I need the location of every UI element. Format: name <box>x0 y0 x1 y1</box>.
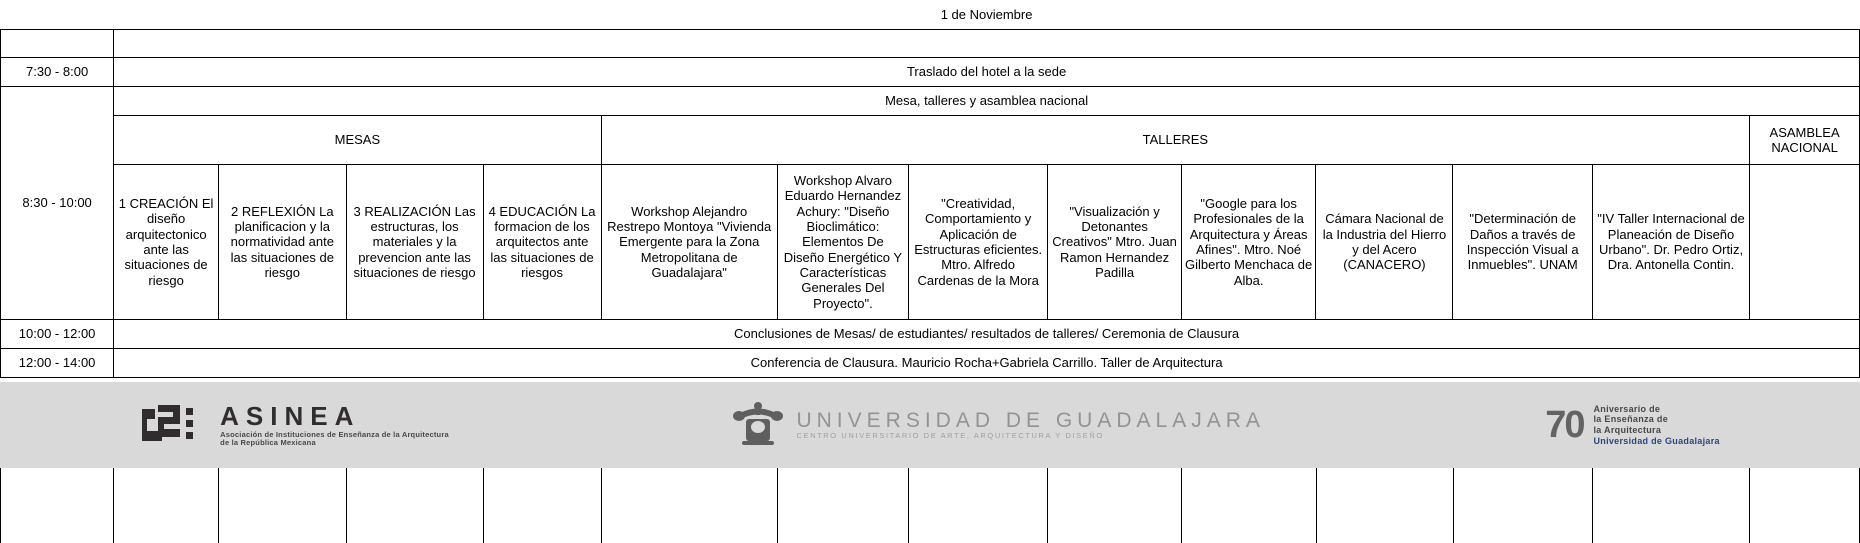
asinea-subtitle: Asociación de Instituciones de Enseñanza… <box>220 431 450 447</box>
row-mesa-banner: 8:30 - 10:00 Mesa, talleres y asamblea n… <box>1 87 1860 116</box>
universidad-de-guadalajara-logo: UNIVERSIDAD DE GUADALAJARA CENTRO UNIVER… <box>730 397 1264 453</box>
mesa-cell-1: 1 CREACIÓN El diseño arquitectonico ante… <box>114 165 219 320</box>
group-header-asamblea: ASAMBLEA NACIONAL <box>1750 116 1860 165</box>
time-clausura: 12:00 - 14:00 <box>1 349 114 378</box>
date-title: 1 de Noviembre <box>114 0 1860 30</box>
empty-cell <box>1048 468 1181 543</box>
empty-cell <box>1453 468 1592 543</box>
taller-cell-7: "Determinación de Daños a través de Insp… <box>1453 165 1592 320</box>
title-spacer <box>1 0 114 30</box>
footer-logo-band: ASINEA Asociación de Instituciones de En… <box>0 382 1860 468</box>
aniversario-line-3: la Arquitectura <box>1593 425 1719 436</box>
schedule-table: 1 de Noviembre HORARIO ACTIVIDADES 7:30 … <box>0 0 1860 378</box>
asinea-title: ASINEA <box>220 403 450 430</box>
taller-cell-8: "IV Taller Internacional de Planeación d… <box>1592 165 1749 320</box>
udg-crest-icon <box>730 397 786 453</box>
empty-grid-continuation <box>0 468 1860 541</box>
row-group-headers: MESAS TALLERES ASAMBLEA NACIONAL <box>1 116 1860 165</box>
empty-cell <box>346 468 483 543</box>
aniversario-number: 70 <box>1545 404 1583 447</box>
aniversario-line-2: la Enseñanza de <box>1593 414 1719 425</box>
taller-cell-3: "Creatividad, Comportamiento y Aplicació… <box>908 165 1047 320</box>
group-header-talleres: TALLERES <box>601 116 1750 165</box>
mesa-cell-3: 3 REALIZACIÓN Las estructuras, los mater… <box>346 165 483 320</box>
70-aniversario-logo: 70 Aniversario de la Enseñanza de la Arq… <box>1545 404 1720 447</box>
taller-cell-6: Cámara Nacional de la Industria del Hier… <box>1316 165 1453 320</box>
mesa-cell-4: 4 EDUCACIÓN La formacion de los arquitec… <box>483 165 601 320</box>
title-row: 1 de Noviembre <box>1 0 1860 30</box>
group-header-mesas: MESAS <box>114 116 601 165</box>
empty-cell <box>1316 468 1453 543</box>
empty-cell <box>219 468 347 543</box>
time-conclusiones: 10:00 - 12:00 <box>1 320 114 349</box>
conclusiones-text: Conclusiones de Mesas/ de estudiantes/ r… <box>114 320 1860 349</box>
taller-cell-4: "Visualización y Detonantes Creativos" M… <box>1048 165 1181 320</box>
asinea-logo: ASINEA Asociación de Instituciones de En… <box>140 403 450 447</box>
empty-cell <box>1750 468 1860 543</box>
aniversario-line-4: Universidad de Guadalajara <box>1593 436 1719 447</box>
asinea-logo-text: ASINEA Asociación de Instituciones de En… <box>220 403 450 446</box>
empty-cell <box>909 468 1048 543</box>
empty-cell <box>1181 468 1316 543</box>
mesa-banner-text: Mesa, talleres y asamblea nacional <box>114 87 1860 116</box>
udg-logo-text: UNIVERSIDAD DE GUADALAJARA CENTRO UNIVER… <box>796 410 1264 440</box>
taller-cell-5: "Google para los Profesionales de la Arq… <box>1181 165 1316 320</box>
udg-title: UNIVERSIDAD DE GUADALAJARA <box>796 410 1264 432</box>
empty-cell <box>1 468 114 543</box>
actividades-header: ACTIVIDADES <box>114 30 1860 58</box>
taller-cell-1: Workshop Alejandro Restrepo Montoya "Viv… <box>601 165 777 320</box>
empty-cell <box>1592 468 1749 543</box>
time-traslado: 7:30 - 8:00 <box>1 58 114 87</box>
empty-grid-row <box>1 468 1860 543</box>
time-main-block: 8:30 - 10:00 <box>1 87 114 320</box>
aniversario-text: Aniversario de la Enseñanza de la Arquit… <box>1593 404 1719 446</box>
empty-cell <box>483 468 601 543</box>
row-main-content: 1 CREACIÓN El diseño arquitectonico ante… <box>1 165 1860 320</box>
horario-header: HORARIO <box>1 30 114 58</box>
row-clausura: 12:00 - 14:00 Conferencia de Clausura. M… <box>1 349 1860 378</box>
taller-cell-2: Workshop Alvaro Eduardo Hernandez Achury… <box>777 165 908 320</box>
schedule-sheet: 1 de Noviembre HORARIO ACTIVIDADES 7:30 … <box>0 0 1860 541</box>
empty-cell <box>114 468 219 543</box>
traslado-text: Traslado del hotel a la sede <box>114 58 1860 87</box>
row-conclusiones: 10:00 - 12:00 Conclusiones de Mesas/ de … <box>1 320 1860 349</box>
aniversario-line-1: Aniversario de <box>1593 404 1719 415</box>
empty-cell <box>601 468 777 543</box>
clausura-text: Conferencia de Clausura. Mauricio Rocha+… <box>114 349 1860 378</box>
udg-subtitle: CENTRO UNIVERSITARIO DE ARTE, ARQUITECTU… <box>796 432 1264 440</box>
asinea-mark-icon <box>140 403 210 447</box>
empty-cell <box>777 468 908 543</box>
empty-grid-table <box>0 468 1860 543</box>
asamblea-cell <box>1750 165 1860 320</box>
mesa-cell-2: 2 REFLEXIÓN La planificacion y la normat… <box>219 165 347 320</box>
row-traslado: 7:30 - 8:00 Traslado del hotel a la sede <box>1 58 1860 87</box>
header-row: HORARIO ACTIVIDADES <box>1 30 1860 58</box>
